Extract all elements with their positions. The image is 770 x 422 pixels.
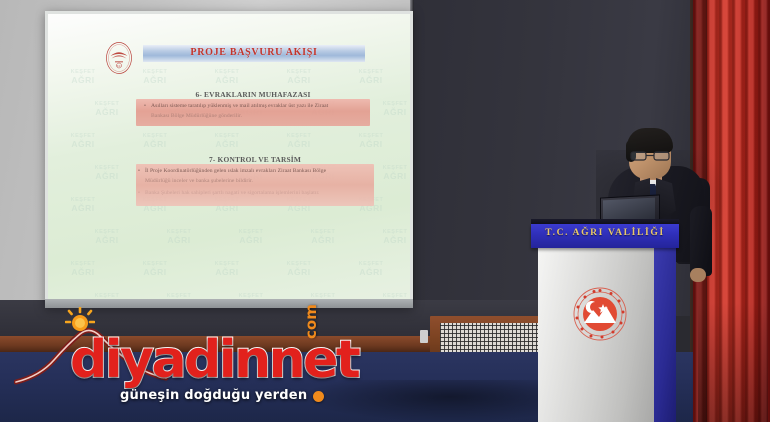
slide-watermark-tile: KEŞFETAĞRI — [76, 166, 138, 181]
section-7-bullet-2: Müdürlüğü inceler ve banka şubelerine bi… — [145, 177, 370, 186]
slide-watermark-tile: KEŞFETAĞRI — [148, 294, 210, 299]
speaker-hand — [690, 268, 706, 282]
section-7-bullet-3: •Banka Şubeleri hak sahipleri şartlı nag… — [138, 189, 370, 198]
section-6-bullet-1: •Asılları sisteme taratılıp yüklenmiş ve… — [144, 102, 366, 111]
slide-watermark-tile: KEŞFETAĞRI — [76, 230, 138, 245]
slide-watermark-tile: KEŞFETAĞRI — [124, 134, 186, 149]
watermark-dot-icon — [313, 391, 324, 402]
slide-watermark-tile: KEŞFETAĞRI — [196, 134, 258, 149]
slide-watermark-tile: KEŞFETAĞRI — [220, 230, 282, 245]
section-6-bullet-1-text: Asılları sisteme taratılıp yüklenmiş ve … — [151, 103, 328, 109]
speaker-glasses-icon — [630, 148, 670, 158]
section-6-bullet-2: Bankası Bölge Müdürlüğüne gönderilir. — [151, 112, 366, 121]
slide-watermark-tile: KEŞFETAĞRI — [76, 102, 138, 117]
slide-watermark-tile: KEŞFETAĞRI — [52, 262, 114, 277]
section-6-heading: 6- EVRAKLARIN MUHAFAZASI — [136, 90, 370, 99]
curtain-fold — [698, 302, 768, 422]
slide-watermark-tile: KEŞFETAĞRI — [52, 134, 114, 149]
slide-watermark-tile: KEŞFETAĞRI — [268, 70, 330, 85]
projection-screen-bottom-bar — [45, 299, 413, 308]
screenshot-stage: KEŞFETAĞRIKEŞFETAĞRIKEŞFETAĞRIKEŞFETAĞRI… — [0, 0, 770, 422]
slide-watermark-tile: KEŞFETAĞRI — [340, 70, 402, 85]
slide-title: PROJE BAŞVURU AKIŞI — [143, 47, 365, 58]
watermark-tld: com — [302, 304, 320, 339]
slide-watermark-tile: KEŞFETAĞRI — [340, 134, 402, 149]
section-7-bullet-1: •İl Proje Koordinatörlüğünden gelen ısla… — [138, 167, 370, 176]
slide-watermark-tile: KEŞFETAĞRI — [292, 230, 354, 245]
speaker-arm — [690, 206, 712, 276]
slide-watermark-tile: KEŞFETAĞRI — [340, 262, 402, 277]
podium-banner-text: T.C. AĞRI VALİLİĞİ — [531, 227, 679, 238]
slide-watermark-tile: KEŞFETAĞRI — [148, 230, 210, 245]
slide-watermark-tile: KEŞFETAĞRI — [220, 294, 282, 299]
slide-watermark-tile: KEŞFETAĞRI — [364, 294, 410, 299]
slide-watermark-tile: KEŞFETAĞRI — [196, 262, 258, 277]
slide-watermark-tile: KEŞFETAĞRI — [292, 294, 354, 299]
podium-side-panel — [654, 240, 676, 422]
slide-watermark-tile: KEŞFETAĞRI — [124, 262, 186, 277]
wall-outlet — [420, 330, 428, 343]
slide-watermark-tile: KEŞFETAĞRI — [52, 198, 114, 213]
svg-text:T.C.: T.C. — [116, 64, 121, 68]
section-7-bullet-3-text: Banka Şubeleri hak sahipleri şartlı naga… — [145, 190, 320, 196]
section-7-heading: 7- KONTROL VE TARSİM — [136, 155, 374, 164]
ministry-emblem-icon: T.C. — [104, 41, 134, 75]
slide-watermark-tile: KEŞFETAĞRI — [268, 134, 330, 149]
slide-watermark-tile: KEŞFETAĞRI — [364, 230, 410, 245]
slide-watermark-tile: KEŞFETAĞRI — [364, 102, 410, 117]
watermark-sitename: diyadinnet — [70, 334, 358, 386]
slide-watermark-tile: KEŞFETAĞRI — [76, 294, 138, 299]
watermark-tagline: güneşin doğduğu yerden — [120, 388, 307, 403]
turkey-ministry-emblem-icon — [572, 286, 628, 342]
presentation-slide: KEŞFETAĞRIKEŞFETAĞRIKEŞFETAĞRIKEŞFETAĞRI… — [48, 14, 410, 299]
slide-watermark-tile: KEŞFETAĞRI — [268, 262, 330, 277]
slide-watermark-tile: KEŞFETAĞRI — [196, 70, 258, 85]
section-7-bullet-1-text: İl Proje Koordinatörlüğünden gelen ıslak… — [145, 168, 326, 174]
